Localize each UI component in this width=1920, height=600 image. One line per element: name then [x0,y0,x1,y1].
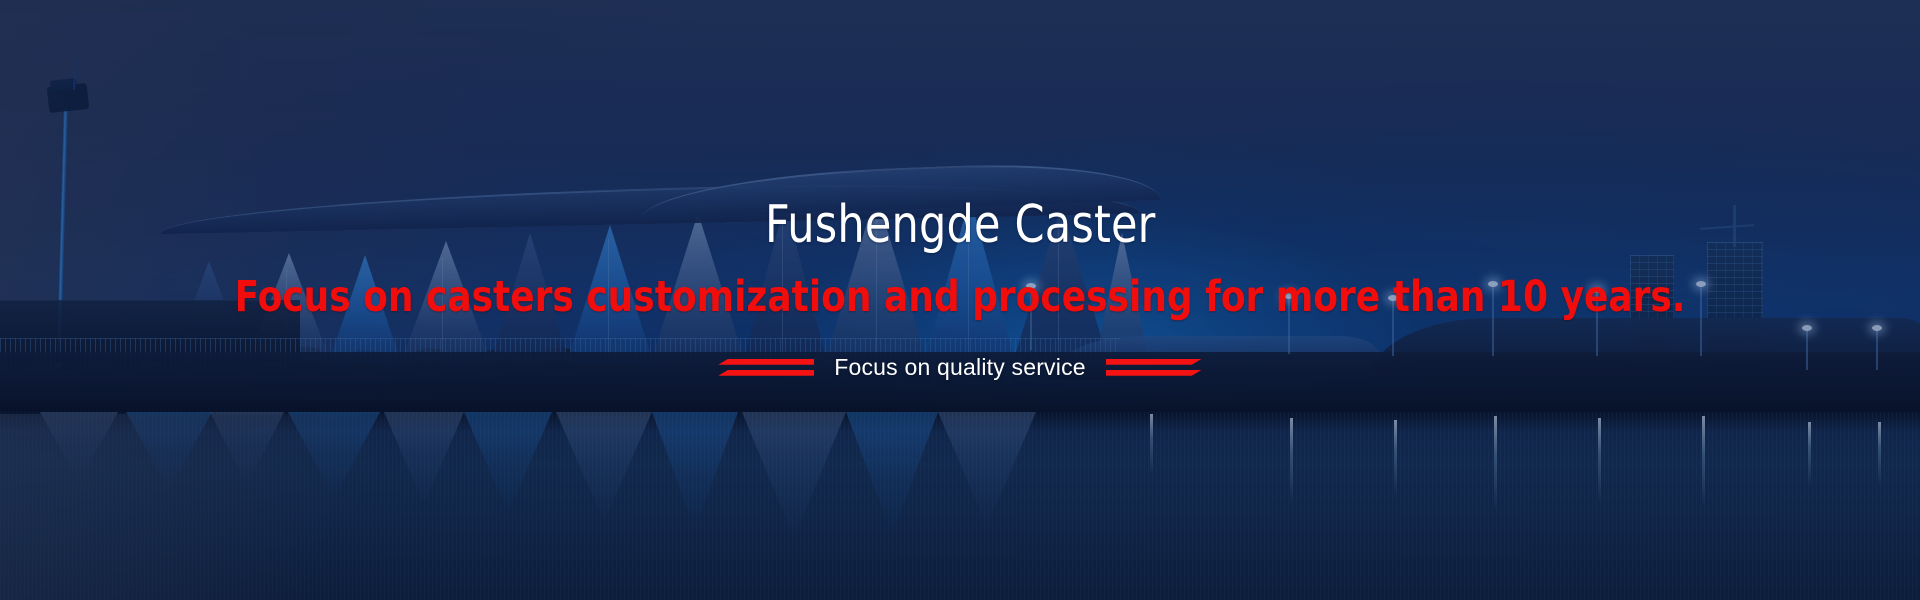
red-accent-bars-right [1106,359,1202,376]
red-accent-bars-left [718,359,814,376]
banner-tagline-row: Focus on quality service [718,354,1202,381]
banner-content: Fushengde Caster Focus on casters custom… [0,0,1920,600]
accent-bar [1106,370,1202,376]
banner-tagline: Focus on quality service [834,354,1086,381]
hero-banner: Fushengde Caster Focus on casters custom… [0,0,1920,600]
banner-title: Fushengde Caster [765,198,1156,253]
banner-subtitle: Focus on casters customization and proce… [235,275,1686,320]
accent-bar [718,370,814,376]
accent-bar [718,359,814,365]
accent-bar [1106,359,1202,365]
